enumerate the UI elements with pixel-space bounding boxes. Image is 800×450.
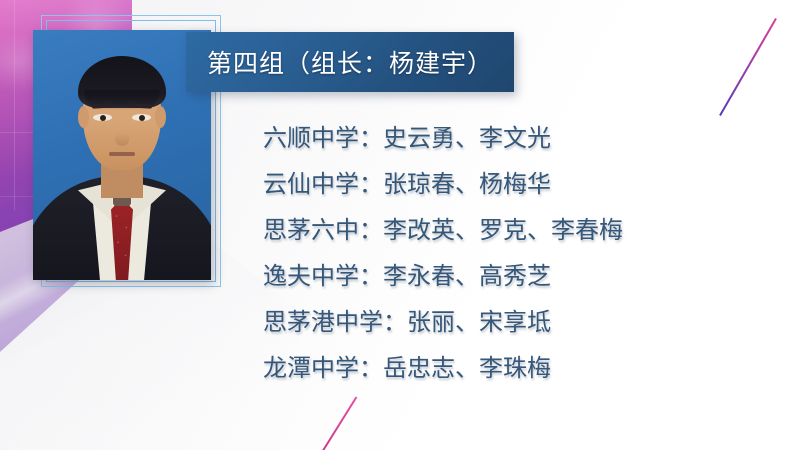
photo-nose — [115, 124, 129, 146]
list-item: 龙潭中学：岳忠志、李珠梅 — [263, 346, 773, 392]
photo-eye-left — [93, 114, 112, 121]
list-item: 逸夫中学：李永春、高秀芝 — [263, 254, 773, 300]
presentation-slide: 第四组（组长：杨建宇） 六顺中学：史云勇、李文光 云仙中学：张琼春、杨梅华 思茅… — [0, 0, 800, 450]
photo-ear-right — [155, 106, 166, 128]
photo-ear-left — [78, 106, 89, 128]
slide-title-bar: 第四组（组长：杨建宇） — [186, 32, 514, 92]
slide-title: 第四组（组长：杨建宇） — [207, 44, 493, 80]
list-item: 思茅港中学：张丽、宋享坻 — [263, 300, 773, 346]
photo-eye-right — [132, 114, 151, 121]
accent-diagonal-line-bottom — [321, 396, 358, 450]
accent-diagonal-line-top-right — [719, 18, 777, 116]
list-item: 思茅六中：李改英、罗克、李春梅 — [263, 208, 773, 254]
photo-mouth — [109, 152, 135, 156]
list-item: 云仙中学：张琼春、杨梅华 — [263, 162, 773, 208]
portrait-photo — [33, 30, 211, 280]
list-item: 六顺中学：史云勇、李文光 — [263, 116, 773, 162]
school-member-list: 六顺中学：史云勇、李文光 云仙中学：张琼春、杨梅华 思茅六中：李改英、罗克、李春… — [263, 116, 773, 392]
